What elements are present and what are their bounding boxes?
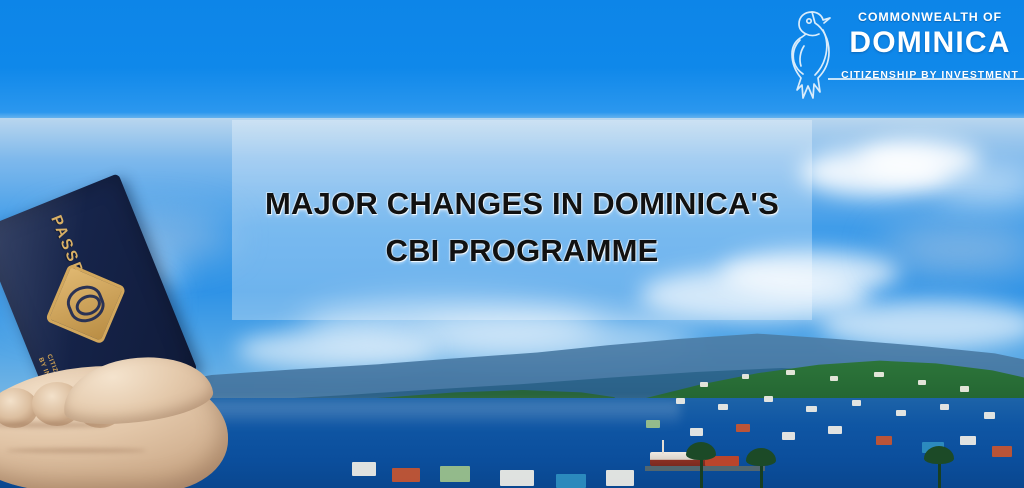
title-line-2: CBI PROGRAMME bbox=[232, 227, 812, 274]
village-house bbox=[556, 474, 586, 488]
village-house bbox=[852, 400, 861, 406]
village-house bbox=[874, 372, 884, 377]
village-house bbox=[876, 436, 892, 445]
village-house bbox=[786, 370, 795, 375]
logo-divider bbox=[828, 78, 1024, 80]
port-crane bbox=[662, 440, 664, 454]
village-house bbox=[676, 398, 685, 404]
hand-crease bbox=[6, 448, 146, 453]
village-house bbox=[828, 426, 842, 434]
village-house bbox=[440, 466, 470, 482]
village-house bbox=[352, 462, 376, 476]
title-line-1: MAJOR CHANGES IN DOMINICA'S bbox=[232, 180, 812, 227]
palm-crown bbox=[924, 446, 954, 464]
village-house bbox=[782, 432, 795, 440]
village-house bbox=[960, 386, 969, 392]
logo-line-1: COMMONWEALTH OF bbox=[840, 10, 1020, 25]
hand-holding-passport bbox=[0, 352, 256, 488]
dominica-cbi-logo: COMMONWEALTH OF DOMINICA CITIZENSHIP BY … bbox=[782, 4, 1020, 108]
village-house bbox=[992, 446, 1012, 457]
page-title: MAJOR CHANGES IN DOMINICA'S CBI PROGRAMM… bbox=[232, 180, 812, 274]
palm-crown bbox=[686, 442, 716, 460]
village-house bbox=[606, 470, 634, 486]
village-house bbox=[806, 406, 817, 412]
village-house bbox=[896, 410, 906, 416]
village-house bbox=[500, 470, 534, 486]
village-house bbox=[742, 374, 749, 379]
village-house bbox=[392, 468, 420, 482]
village-house bbox=[700, 382, 708, 387]
village-house bbox=[830, 376, 838, 381]
village-house bbox=[940, 404, 949, 410]
dock bbox=[645, 466, 765, 471]
logo-line-2: DOMINICA bbox=[840, 26, 1020, 59]
parrot-icon bbox=[782, 6, 844, 106]
logo-line-3: CITIZENSHIP BY INVESTMENT bbox=[840, 69, 1020, 82]
village-house bbox=[918, 380, 926, 385]
village-house bbox=[690, 428, 703, 436]
cbi-banner-image: MAJOR CHANGES IN DOMINICA'S CBI PROGRAMM… bbox=[0, 0, 1024, 488]
village-house bbox=[960, 436, 976, 445]
palm-crown bbox=[746, 448, 776, 466]
village-house bbox=[764, 396, 773, 402]
village-house bbox=[984, 412, 995, 419]
village-house bbox=[718, 404, 728, 410]
village-house bbox=[736, 424, 750, 432]
village-house bbox=[646, 420, 660, 428]
